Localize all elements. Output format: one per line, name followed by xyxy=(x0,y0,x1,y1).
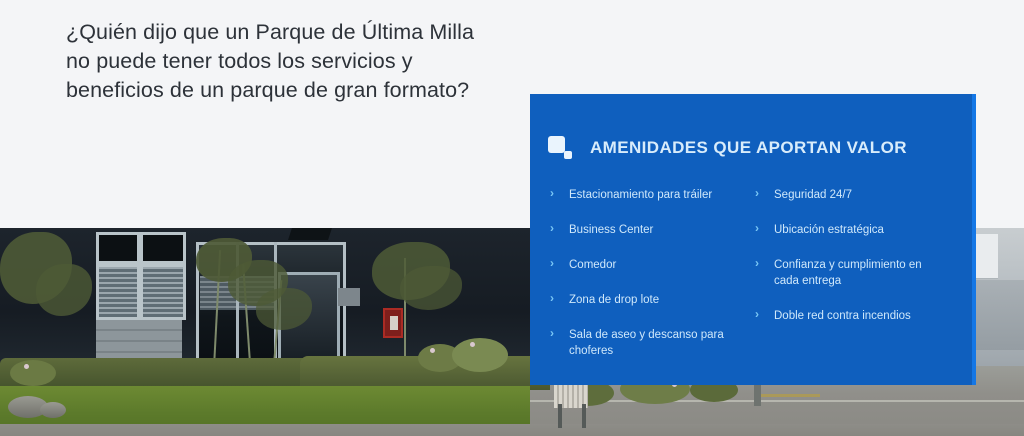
list-item-label: Sala de aseo y descanso para choferes xyxy=(569,327,737,359)
panel-edge-accent xyxy=(972,94,976,385)
list-item[interactable]: › Confianza y cumplimiento en cada entre… xyxy=(753,257,958,289)
list-item[interactable]: › Sala de aseo y descanso para choferes xyxy=(548,327,753,359)
photo-road-marking xyxy=(760,394,820,397)
photo-flower xyxy=(24,364,29,369)
photo-pavement-foreground xyxy=(0,424,1024,436)
photo-fire-cabinet xyxy=(383,308,403,338)
photo-flower xyxy=(430,348,435,353)
list-item[interactable]: › Zona de drop lote xyxy=(548,292,753,308)
list-item-label: Zona de drop lote xyxy=(569,292,737,308)
list-item[interactable]: › Seguridad 24/7 xyxy=(753,187,958,203)
marketing-slide: ¿Quién dijo que un Parque de Última Mill… xyxy=(0,0,1024,436)
rounded-squares-icon xyxy=(548,136,574,160)
photo-flower xyxy=(470,342,475,347)
amenities-title: AMENIDADES QUE APORTAN VALOR xyxy=(590,138,907,158)
photo-bollard xyxy=(754,382,761,406)
photo-louvre-pane xyxy=(99,267,137,317)
list-item[interactable]: › Comedor xyxy=(548,257,753,273)
chevron-right-icon: › xyxy=(753,257,761,270)
photo-window-pane xyxy=(143,235,183,261)
list-item-label: Comedor xyxy=(569,257,737,273)
chevron-right-icon: › xyxy=(548,257,556,270)
photo-sign-post xyxy=(558,404,562,428)
chevron-right-icon: › xyxy=(753,222,761,235)
list-item[interactable]: › Business Center xyxy=(548,222,753,238)
amenities-column-right: › Seguridad 24/7 › Ubicación estratégica… xyxy=(753,187,958,378)
list-item-label: Confianza y cumplimiento en cada entrega xyxy=(774,257,942,289)
amenities-column-left: › Estacionamiento para tráiler › Busines… xyxy=(548,187,753,378)
photo-louvre-pane xyxy=(143,267,183,317)
photo-sign-post xyxy=(582,404,586,428)
amenities-title-row: AMENIDADES QUE APORTAN VALOR xyxy=(548,136,907,160)
chevron-right-icon: › xyxy=(753,187,761,200)
photo-wall-sign xyxy=(338,288,360,306)
chevron-right-icon: › xyxy=(548,187,556,200)
photo-rock xyxy=(40,402,66,418)
photo-canopy xyxy=(288,228,332,240)
photo-window-pane xyxy=(99,235,137,261)
chevron-right-icon: › xyxy=(548,327,556,340)
photo-shrub xyxy=(10,360,56,386)
list-item[interactable]: › Ubicación estratégica xyxy=(753,222,958,238)
list-item-label: Doble red contra incendios xyxy=(774,308,942,324)
list-item-label: Business Center xyxy=(569,222,737,238)
list-item-label: Seguridad 24/7 xyxy=(774,187,942,203)
amenities-columns: › Estacionamiento para tráiler › Busines… xyxy=(548,187,958,378)
list-item-label: Ubicación estratégica xyxy=(774,222,942,238)
chevron-right-icon: › xyxy=(548,222,556,235)
list-item[interactable]: › Estacionamiento para tráiler xyxy=(548,187,753,203)
photo-shrub xyxy=(452,338,508,372)
list-item[interactable]: › Doble red contra incendios xyxy=(753,308,958,324)
chevron-right-icon: › xyxy=(753,308,761,321)
chevron-right-icon: › xyxy=(548,292,556,305)
page-headline: ¿Quién dijo que un Parque de Última Mill… xyxy=(66,18,496,105)
amenities-panel: AMENIDADES QUE APORTAN VALOR › Estaciona… xyxy=(530,94,976,385)
list-item-label: Estacionamiento para tráiler xyxy=(569,187,737,203)
